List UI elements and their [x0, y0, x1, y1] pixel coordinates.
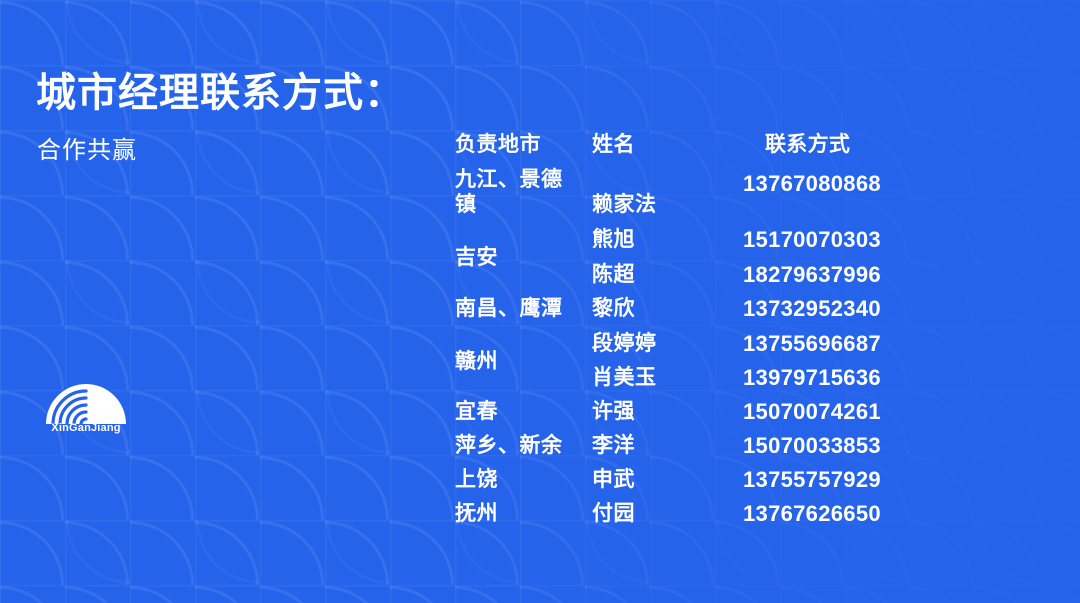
cell-name: 许强 [592, 399, 722, 424]
logo: XinGanJiang [40, 374, 132, 442]
cell-city: 赣州 [455, 349, 575, 374]
cell-city: 吉安 [455, 245, 575, 270]
cell-name: 申武 [592, 467, 722, 492]
cell-phone: 18279637996 [743, 262, 923, 287]
cell-phone: 13979715636 [743, 365, 923, 390]
column-header-phone: 联系方式 [765, 132, 945, 157]
cell-phone: 13767080868 [743, 171, 923, 196]
page-subtitle: 合作共赢 [37, 130, 137, 165]
cell-city: 上饶 [455, 467, 575, 492]
cell-name: 熊旭 [592, 227, 722, 252]
cell-name: 段婷婷 [592, 331, 722, 356]
cell-phone: 13767626650 [743, 501, 923, 526]
cell-city: 九江、景德镇 [455, 167, 575, 217]
cell-city: 萍乡、新余 [455, 433, 575, 458]
cell-city: 宜春 [455, 399, 575, 424]
cell-name: 肖美玉 [592, 365, 722, 390]
cell-name: 李洋 [592, 433, 722, 458]
cell-name: 黎欣 [592, 296, 722, 321]
column-header-name: 姓名 [592, 132, 722, 157]
cell-name: 赖家法 [592, 192, 722, 217]
cell-name: 陈超 [592, 262, 722, 287]
slide-canvas: 城市经理联系方式： 合作共赢 XinGanJiang 负责地市 姓名 联系方式 … [0, 0, 1080, 603]
cell-phone: 13755696687 [743, 331, 923, 356]
page-title: 城市经理联系方式： [36, 60, 405, 118]
cell-phone: 13755757929 [743, 467, 923, 492]
column-header-city: 负责地市 [455, 132, 575, 157]
cell-phone: 15070074261 [743, 399, 923, 424]
cell-phone: 15070033853 [743, 433, 923, 458]
cell-phone: 15170070303 [743, 227, 923, 252]
cell-city: 抚州 [455, 501, 575, 526]
cell-city: 南昌、鹰潭 [455, 296, 575, 321]
cell-phone: 13732952340 [743, 296, 923, 321]
fan-arcs-icon [42, 374, 130, 424]
logo-text: XinGanJiang [40, 422, 132, 434]
cell-name: 付园 [592, 501, 722, 526]
